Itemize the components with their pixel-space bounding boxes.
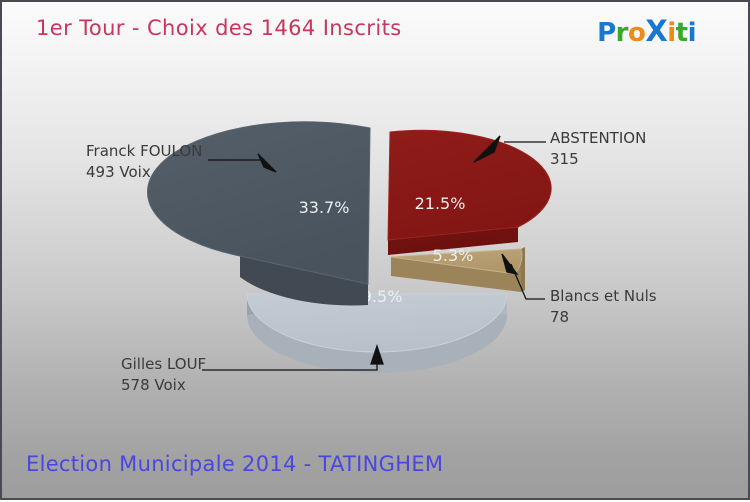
pie-label-abstention: 21.5% <box>415 194 466 213</box>
pie-slice-abstention[interactable]: 21.5% <box>388 130 551 255</box>
callout-foulon-line2: 493 Voix <box>86 162 202 183</box>
footer-title: Election Municipale 2014 - TATINGHEM <box>26 452 443 476</box>
pie-label-franck-foulon: 33.7% <box>299 198 350 217</box>
callout-franck-foulon: Franck FOULON 493 Voix <box>86 141 202 183</box>
callout-blancs-line2: 78 <box>550 307 657 328</box>
pie-label-blancs-et-nuls: 5.3% <box>433 246 474 265</box>
callout-abstention-line2: 315 <box>550 149 646 170</box>
callout-blancs-et-nuls: Blancs et Nuls 78 <box>550 286 657 328</box>
callout-abstention: ABSTENTION 315 <box>550 128 646 170</box>
callout-blancs-line1: Blancs et Nuls <box>550 287 657 305</box>
pie-chart: 39.5% 33.7% 21.5% 5.3% <box>2 2 750 502</box>
callout-louf-line2: 578 Voix <box>121 375 206 396</box>
callout-foulon-line1: Franck FOULON <box>86 142 202 160</box>
pie-slice-abstention-top <box>388 130 551 240</box>
callout-abstention-line1: ABSTENTION <box>550 129 646 147</box>
pie-slice-blancs-et-nuls[interactable]: 5.3% <box>391 246 525 292</box>
callout-louf-line1: Gilles LOUF <box>121 355 206 373</box>
callout-gilles-louf: Gilles LOUF 578 Voix <box>121 354 206 396</box>
chart-page: 1er Tour - Choix des 1464 Inscrits ProXi… <box>0 0 750 500</box>
